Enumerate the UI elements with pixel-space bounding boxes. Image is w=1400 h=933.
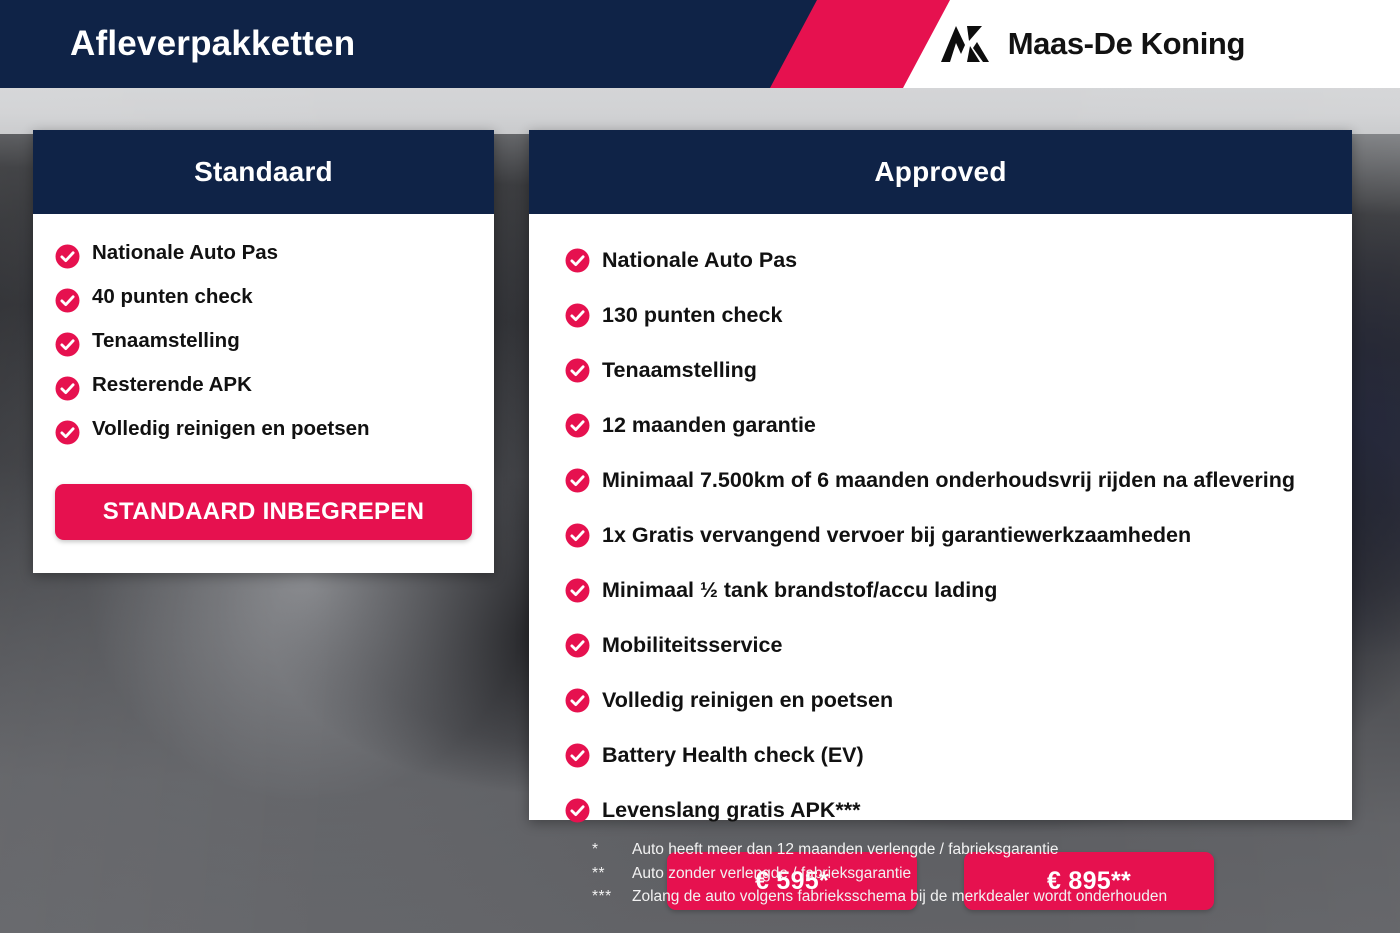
feature-label: 130 punten check	[602, 295, 782, 335]
brand-name: Maas-De Koning	[1008, 26, 1245, 62]
background-light-band	[0, 88, 1400, 134]
feature-item: Levenslang gratis APK***	[529, 790, 1352, 830]
footnote-2-text: Auto zonder verlengde / fabrieksgarantie	[632, 862, 911, 886]
check-circle-icon	[565, 358, 590, 383]
feature-label: Minimaal ½ tank brandstof/accu lading	[602, 570, 997, 610]
footnote-2-mark: **	[592, 862, 632, 886]
check-circle-icon	[565, 798, 590, 823]
feature-item: Volledig reinigen en poetsen	[529, 680, 1352, 720]
check-circle-icon	[55, 244, 80, 269]
package-body-approved: Nationale Auto Pas130 punten checkTenaam…	[529, 214, 1352, 910]
feature-label: Tenaamstelling	[602, 350, 757, 390]
feature-label: Levenslang gratis APK***	[602, 790, 860, 830]
check-circle-icon	[565, 633, 590, 658]
feature-label: Battery Health check (EV)	[602, 735, 864, 775]
feature-item: Nationale Auto Pas	[529, 240, 1352, 280]
page-header: Afleverpakketten Maas-De Koning	[0, 0, 1400, 88]
feature-item: Volledig reinigen en poetsen	[33, 416, 494, 445]
footnote-1-mark: *	[592, 838, 632, 862]
feature-item: Resterende APK	[33, 372, 494, 401]
feature-label: Mobiliteitsservice	[602, 625, 782, 665]
footnote-3-text: Zolang de auto volgens fabrieksschema bi…	[632, 885, 1167, 909]
feature-label: 1x Gratis vervangend vervoer bij garanti…	[602, 515, 1191, 555]
feature-item: Minimaal ½ tank brandstof/accu lading	[529, 570, 1352, 610]
feature-label: Resterende APK	[92, 372, 252, 397]
footnote-1-text: Auto heeft meer dan 12 maanden verlengde…	[632, 838, 1059, 862]
feature-item: 12 maanden garantie	[529, 405, 1352, 445]
feature-label: Tenaamstelling	[92, 328, 240, 353]
feature-item: 1x Gratis vervangend vervoer bij garanti…	[529, 515, 1352, 555]
feature-label: Minimaal 7.500km of 6 maanden onderhouds…	[602, 460, 1295, 500]
footnote-1: * Auto heeft meer dan 12 maanden verleng…	[592, 838, 1167, 862]
check-circle-icon	[565, 303, 590, 328]
check-circle-icon	[565, 523, 590, 548]
check-circle-icon	[565, 743, 590, 768]
package-body-standaard: Nationale Auto Pas40 punten checkTenaams…	[33, 214, 494, 540]
check-circle-icon	[55, 332, 80, 357]
check-circle-icon	[55, 376, 80, 401]
check-circle-icon	[565, 468, 590, 493]
feature-item: Minimaal 7.500km of 6 maanden onderhouds…	[529, 460, 1352, 500]
feature-item: Battery Health check (EV)	[529, 735, 1352, 775]
footnote-3-mark: ***	[592, 885, 632, 909]
check-circle-icon	[565, 688, 590, 713]
check-circle-icon	[565, 413, 590, 438]
footnote-2: ** Auto zonder verlengde / fabrieksgaran…	[592, 862, 1167, 886]
brand-logo: Maas-De Koning	[939, 0, 1245, 88]
package-card-standaard: Standaard Nationale Auto Pas40 punten ch…	[33, 130, 494, 573]
feature-label: 40 punten check	[92, 284, 253, 309]
feature-label: Nationale Auto Pas	[602, 240, 797, 280]
footnotes: * Auto heeft meer dan 12 maanden verleng…	[592, 838, 1167, 909]
feature-item: 40 punten check	[33, 284, 494, 313]
check-circle-icon	[565, 248, 590, 273]
standaard-included-button[interactable]: STANDAARD INBEGREPEN	[55, 484, 472, 540]
feature-item: Mobiliteitsservice	[529, 625, 1352, 665]
feature-item: Nationale Auto Pas	[33, 240, 494, 269]
feature-label: 12 maanden garantie	[602, 405, 816, 445]
feature-label: Nationale Auto Pas	[92, 240, 278, 265]
maas-de-koning-logo-icon	[939, 24, 991, 64]
package-title-approved: Approved	[529, 130, 1352, 214]
package-card-approved: Approved Nationale Auto Pas130 punten ch…	[529, 130, 1352, 820]
standaard-button-row: STANDAARD INBEGREPEN	[33, 460, 494, 540]
feature-item: Tenaamstelling	[529, 350, 1352, 390]
feature-item: 130 punten check	[529, 295, 1352, 335]
feature-list-approved: Nationale Auto Pas130 punten checkTenaam…	[529, 240, 1352, 830]
feature-list-standaard: Nationale Auto Pas40 punten checkTenaams…	[33, 240, 494, 445]
check-circle-icon	[55, 420, 80, 445]
page-title: Afleverpakketten	[70, 0, 355, 88]
check-circle-icon	[55, 288, 80, 313]
feature-item: Tenaamstelling	[33, 328, 494, 357]
feature-label: Volledig reinigen en poetsen	[602, 680, 893, 720]
footnote-3: *** Zolang de auto volgens fabrieksschem…	[592, 885, 1167, 909]
package-title-standaard: Standaard	[33, 130, 494, 214]
feature-label: Volledig reinigen en poetsen	[92, 416, 370, 441]
check-circle-icon	[565, 578, 590, 603]
